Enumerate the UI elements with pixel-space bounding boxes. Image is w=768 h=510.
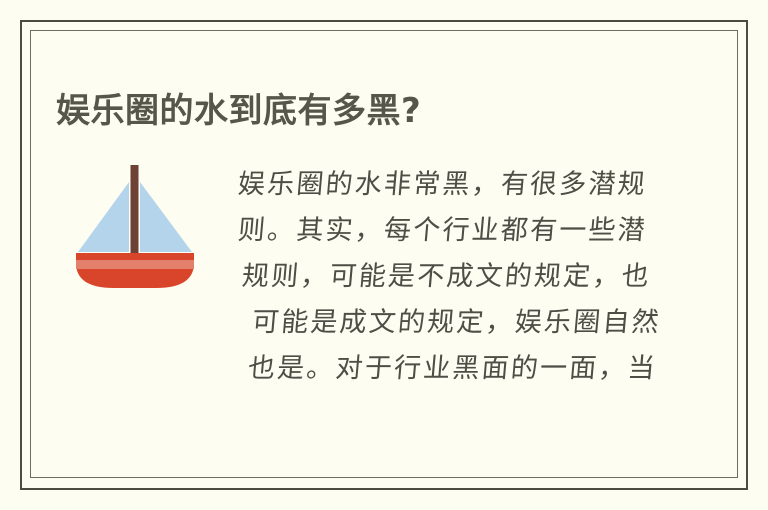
body-line: 娱乐圈的水非常黑，有很多潜规: [236, 162, 656, 208]
answer-body: 娱乐圈的水非常黑，有很多潜规 则。其实，每个行业都有一些潜 规则，可能是不成文的…: [238, 162, 654, 392]
answer-card: 娱乐圈的水到底有多黑? 娱乐圈的水非常黑，有很多潜规 则。其实，每个行业都有一些…: [0, 0, 768, 510]
page-title: 娱乐圈的水到底有多黑?: [56, 89, 421, 133]
sailboat-illustration: [70, 160, 200, 290]
body-line: 则。其实，每个行业都有一些潜: [236, 208, 656, 254]
body-line: 规则，可能是不成文的规定，也: [236, 254, 656, 300]
body-line: 可能是成文的规定，娱乐圈自然: [236, 300, 656, 346]
sailboat-icon: [70, 160, 200, 290]
body-line: 也是。对于行业黑面的一面，当: [236, 346, 656, 392]
